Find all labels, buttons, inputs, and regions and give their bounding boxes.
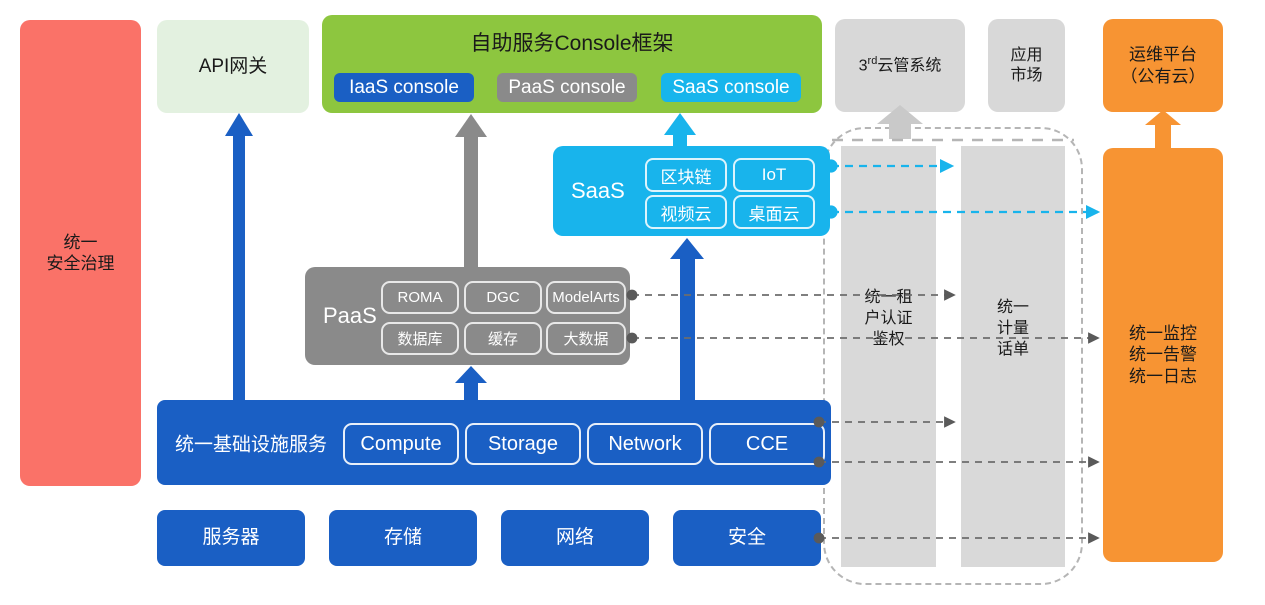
iaas-item-network[interactable]: Network [587,423,703,465]
saas-item-video-cloud-label: 视频云 [661,200,712,225]
paas-item-database-label: 数据库 [397,328,442,349]
saas-console-label: SaaS console [672,77,789,99]
arrow-ops-to-platform [1145,110,1181,148]
unified-metering-column: 统一 计量 话单 [961,146,1065,567]
saas-item-iot-label: IoT [762,165,787,185]
arrow-paas-to-console [455,114,487,267]
app-market-box: 应用 市场 [988,19,1065,112]
ops-platform-label: 运维平台 （公有云） [1121,44,1206,87]
unified-monitoring-panel: 统一监控 统一告警 统一日志 [1103,148,1223,562]
resource-box-network: 网络 [501,510,649,566]
unified-infrastructure-layer: 统一基础设施服务 Compute Storage Network CCE [157,400,831,485]
saas-item-iot[interactable]: IoT [733,158,815,192]
paas-item-modelarts[interactable]: ModelArts [546,281,626,314]
iaas-console-label: IaaS console [349,77,459,99]
paas-item-database[interactable]: 数据库 [381,322,459,355]
saas-layer-label: SaaS [571,178,625,204]
unified-security-governance-panel: 统一 安全治理 [20,20,141,486]
resource-box-security: 安全 [673,510,821,566]
iaas-item-storage-label: Storage [488,433,558,456]
saas-item-blockchain[interactable]: 区块链 [645,158,727,192]
saas-console-chip[interactable]: SaaS console [661,73,801,102]
paas-layer: PaaS ROMA DGC ModelArts 数据库 缓存 大数据 [305,267,630,365]
governance-label: 统一 安全治理 [47,232,115,275]
iaas-item-cce-label: CCE [746,433,788,456]
arrow-iaas-to-paas [455,366,487,401]
paas-console-chip[interactable]: PaaS console [497,73,637,102]
resource-network-label: 网络 [556,526,594,550]
iaas-item-network-label: Network [608,433,681,456]
api-gateway-box: API网关 [157,20,309,113]
arrow-iaas-to-saas [670,238,704,401]
third-party-superscript: rd [868,55,878,67]
paas-item-cache-label: 缓存 [488,328,518,349]
paas-item-modelarts-label: ModelArts [552,289,620,306]
paas-item-dgc-label: DGC [486,289,519,306]
unified-metering-label: 统一 计量 话单 [961,298,1065,360]
paas-item-roma-label: ROMA [398,289,443,306]
paas-console-label: PaaS console [508,77,625,99]
api-gateway-label: API网关 [199,55,268,79]
iaas-item-compute[interactable]: Compute [343,423,459,465]
resource-storage-label: 存储 [384,526,422,550]
self-service-console-frame: 自助服务Console框架 IaaS console PaaS console … [322,15,822,113]
paas-item-bigdata[interactable]: 大数据 [546,322,626,355]
console-frame-title: 自助服务Console框架 [322,27,822,57]
app-market-label: 应用 市场 [1010,46,1042,86]
resource-server-label: 服务器 [202,526,259,550]
third-party-label: 3rd云管系统 [859,55,942,76]
paas-item-cache[interactable]: 缓存 [464,322,542,355]
arrow-saas-to-console [664,113,696,147]
paas-item-roma[interactable]: ROMA [381,281,459,314]
iaas-item-storage[interactable]: Storage [465,423,581,465]
paas-item-bigdata-label: 大数据 [563,328,608,349]
saas-item-video-cloud[interactable]: 视频云 [645,195,727,229]
saas-item-blockchain-label: 区块链 [661,163,712,188]
architecture-diagram: 统一 安全治理 API网关 自助服务Console框架 IaaS console… [0,0,1265,605]
saas-layer: SaaS 区块链 IoT 视频云 桌面云 [553,146,830,236]
iaas-console-chip[interactable]: IaaS console [334,73,474,102]
arrow-iaas-to-api-gateway [225,113,253,400]
paas-item-dgc[interactable]: DGC [464,281,542,314]
unified-tenant-auth-label: 统一租 户认证 鉴权 [841,288,936,350]
saas-item-desktop-cloud-label: 桌面云 [749,200,800,225]
unified-monitoring-label: 统一监控 统一告警 统一日志 [1129,323,1197,387]
iaas-item-cce[interactable]: CCE [709,423,825,465]
third-party-cloud-management-box: 3rd云管系统 [835,19,965,112]
iaas-item-compute-label: Compute [360,433,441,456]
ops-platform-public-cloud-box: 运维平台 （公有云） [1103,19,1223,112]
paas-layer-label: PaaS [323,303,377,329]
saas-item-desktop-cloud[interactable]: 桌面云 [733,195,815,229]
resource-box-storage: 存储 [329,510,477,566]
resource-security-label: 安全 [728,526,766,550]
unified-tenant-auth-column: 统一租 户认证 鉴权 [841,146,936,567]
unified-infrastructure-label: 统一基础设施服务 [175,429,327,456]
resource-box-server: 服务器 [157,510,305,566]
